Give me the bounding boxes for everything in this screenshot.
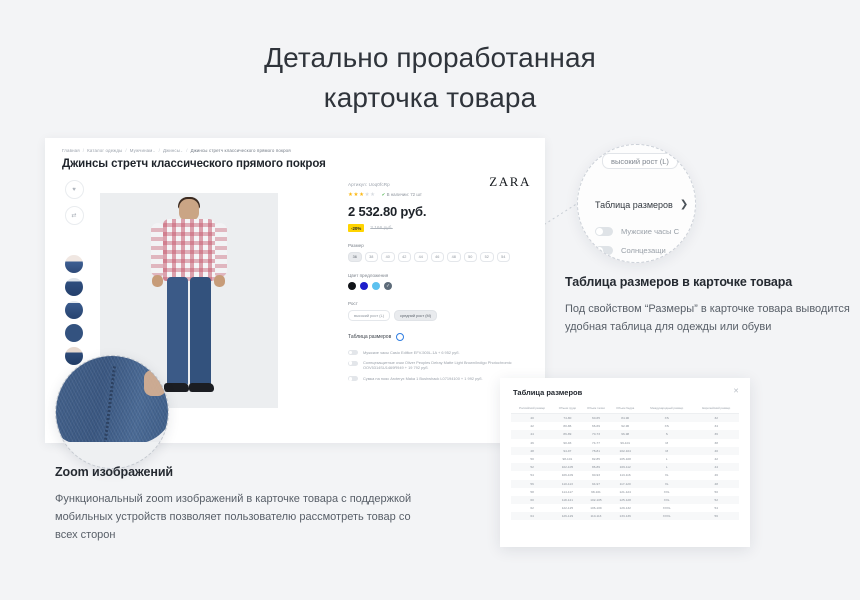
price-discount-row: -20% 3 166 руб.	[348, 224, 530, 232]
table-row: 4894-9778-81102-104M40	[511, 447, 739, 455]
table-row: 4486-8970-7396-98S36	[511, 430, 739, 438]
chevron-down-icon[interactable]: ⌄	[152, 149, 155, 153]
size-table-cell: 58	[511, 488, 553, 496]
size-option[interactable]: 44	[414, 252, 428, 262]
size-table-column-header: Объем груди	[553, 404, 581, 414]
size-table-cell: 102-104	[610, 447, 639, 455]
breadcrumb-item-men[interactable]: Мужчинам	[130, 148, 153, 153]
page-title-line1: Детально проработанная	[264, 42, 596, 73]
size-table-cell: 46	[511, 439, 553, 447]
addon-toggle[interactable]	[595, 246, 613, 255]
size-table-cell: 105-108	[610, 455, 639, 463]
breadcrumb-item-home[interactable]: Главная	[62, 148, 80, 153]
color-group-label: Цвет предложения	[348, 273, 530, 278]
thumbnail-item[interactable]	[65, 324, 83, 342]
size-table-cell: 40	[694, 447, 739, 455]
discount-badge: -20%	[348, 224, 364, 232]
size-option[interactable]: 50	[464, 252, 478, 262]
size-table-cell: 44	[511, 430, 553, 438]
size-table-cell: XXL	[640, 488, 694, 496]
size-table-cell: 129-132	[610, 504, 639, 512]
table-row: 60118-121102-105125-128XXL52	[511, 496, 739, 504]
size-table-cell: 90-93	[581, 471, 610, 479]
breadcrumb-item-jeans[interactable]: Джинсы	[163, 148, 180, 153]
size-table-cell: 42	[511, 422, 553, 430]
size-table-cell: 94-97	[581, 480, 610, 488]
compare-icon[interactable]: ⇄	[65, 206, 84, 225]
size-table-cell: 82-85	[581, 455, 610, 463]
size-table-cell: 40	[511, 414, 553, 423]
article-number: Артикул: Uoq0fcRp	[348, 182, 530, 187]
model-arm-right	[213, 223, 227, 277]
size-table-cell: 125-128	[610, 496, 639, 504]
size-group-label: Размер	[348, 243, 530, 248]
size-table-cell: 36	[694, 430, 739, 438]
size-table-column-header: Российский размер	[511, 404, 553, 414]
size-option[interactable]: 38	[365, 252, 379, 262]
model-jeans-right	[190, 277, 211, 385]
addon-label: Мужские часы Casio Edifice EFV-500L-1A +…	[363, 350, 460, 355]
page-title-line2: карточка товара	[0, 78, 860, 118]
addon-toggle[interactable]	[348, 361, 358, 366]
addon-toggle[interactable]	[348, 376, 358, 381]
size-option[interactable]: 40	[381, 252, 395, 262]
size-table-description-body: Под свойством “Размеры” в карточке товар…	[565, 300, 855, 336]
height-group-label: Рост	[348, 301, 530, 306]
size-table-cell: 52	[694, 496, 739, 504]
magnified-addon-label: Мужские часы C	[621, 227, 679, 236]
size-table-cell: 46	[694, 471, 739, 479]
size-table-cell: 117-120	[610, 480, 639, 488]
check-icon: ✔	[382, 192, 386, 197]
size-table-cell: 102-105	[553, 463, 581, 471]
color-swatch[interactable]	[372, 282, 380, 290]
size-table-header-row: Российский размерОбъем грудиОбъем талииО…	[511, 404, 739, 414]
size-table-cell: 98-101	[581, 488, 610, 496]
thumbnail-rail: ♥ ⇄	[61, 180, 87, 370]
size-table-cell: 48	[694, 480, 739, 488]
size-table-column-header: Европейский размер	[694, 404, 739, 414]
size-table-cell: 50	[694, 488, 739, 496]
size-table-cell: 54	[511, 471, 553, 479]
addon-row[interactable]: Мужские часы Casio Edifice EFV-500L-1A +…	[348, 350, 530, 356]
size-table-cell: 86-89	[581, 463, 610, 471]
rating-stars[interactable]: ★★★★★	[348, 192, 376, 198]
size-table-cell: 92-96	[610, 422, 639, 430]
product-title: Джинсы стретч классического прямого покр…	[62, 158, 326, 170]
size-table-column-header: Международный размер	[640, 404, 694, 414]
size-table-cell: 98-101	[553, 455, 581, 463]
size-table-cell: 121-124	[610, 488, 639, 496]
height-option-tall[interactable]: высокий рост (L)	[348, 310, 390, 321]
model-hand-left	[152, 275, 163, 287]
size-option[interactable]: 54	[497, 252, 511, 262]
size-table-cell: 94-97	[553, 447, 581, 455]
size-table-cell: XXXL	[640, 512, 694, 520]
color-swatch[interactable]	[360, 282, 368, 290]
size-table-cell: 64	[511, 512, 553, 520]
size-table-cell: 44	[694, 463, 739, 471]
size-table-cell: 84-90	[610, 414, 639, 423]
size-table-cell: 102-105	[581, 496, 610, 504]
size-table-cell: 80-86	[553, 422, 581, 430]
size-table-cell: 133-136	[610, 512, 639, 520]
addon-list: Мужские часы Casio Edifice EFV-500L-1A +…	[348, 350, 530, 382]
color-swatch-selected[interactable]	[384, 282, 392, 290]
breadcrumb: Главная/Каталог одежды/Мужчинам⌄/Джинсы⌄…	[62, 148, 291, 153]
size-table-cell: 114-117	[553, 488, 581, 496]
size-table-body: 4074-8060-6584-90XS324280-8666-6992-96XS…	[511, 414, 739, 521]
color-selector	[348, 282, 530, 290]
size-table-cell: 78-81	[581, 447, 610, 455]
size-table-cell: 109-112	[610, 463, 639, 471]
size-table-cell: 32	[694, 414, 739, 423]
zoom-description-title: Zoom изображений	[55, 465, 435, 479]
size-table-cell: 50	[511, 455, 553, 463]
magnified-height-chip[interactable]: высокий рост (L)	[602, 153, 678, 169]
zoom-hand	[144, 370, 166, 396]
old-price: 3 166 руб.	[370, 226, 392, 231]
rating-row: ★★★★★ ✔ В наличии: 72 шт	[348, 192, 530, 198]
size-table-cell: 118-121	[553, 496, 581, 504]
size-table-cell: 86-89	[553, 430, 581, 438]
size-table-cell: XXXL	[640, 504, 694, 512]
size-table-cell: 52	[511, 463, 553, 471]
table-row: 4280-8666-6992-96XS34	[511, 422, 739, 430]
magnified-addon-row[interactable]: Мужские часы C	[595, 227, 679, 236]
size-table-cell: L	[640, 463, 694, 471]
page-root: Детально проработанная карточка товара Г…	[0, 0, 860, 600]
size-table-description-title: Таблица размеров в карточке товара	[565, 275, 855, 289]
product-price: 2 532.80 руб.	[348, 204, 530, 219]
breadcrumb-item-catalog[interactable]: Каталог одежды	[87, 148, 122, 153]
magnified-addon-row[interactable]: Солнцезащи	[595, 246, 666, 255]
size-table-cell: 38	[694, 439, 739, 447]
stock-label: В наличии: 72 шт	[387, 192, 422, 197]
color-swatch[interactable]	[348, 282, 356, 290]
magnified-size-table-link[interactable]: Таблица размеров ❯	[595, 199, 688, 210]
size-table-cell: XS	[640, 422, 694, 430]
thumbnail-list	[61, 255, 87, 365]
size-table-cell: M	[640, 439, 694, 447]
zoom-description-body: Функциональный zoom изображений в карточ…	[55, 490, 435, 544]
image-zoom-lens[interactable]	[55, 355, 169, 469]
size-option[interactable]: 36	[348, 252, 362, 262]
size-table-cell: 74-80	[553, 414, 581, 423]
size-table-cell: 66-69	[581, 422, 610, 430]
table-row: 4690-9374-7799-101M38	[511, 439, 739, 447]
size-table-cell: 106-109	[581, 504, 610, 512]
size-table-cell: 99-101	[610, 439, 639, 447]
table-row: 56110-11394-97117-120XL48	[511, 480, 739, 488]
table-row: 62122-125106-109129-132XXXL54	[511, 504, 739, 512]
table-row: 64126-129110-113133-136XXXL56	[511, 512, 739, 520]
size-table-cell: 56	[511, 480, 553, 488]
table-row: 54106-10990-93113-116XL46	[511, 471, 739, 479]
size-option[interactable]: 48	[447, 252, 461, 262]
size-table-cell: L	[640, 455, 694, 463]
table-row: 5098-10182-85105-108L42	[511, 455, 739, 463]
size-table-cell: 106-109	[553, 471, 581, 479]
model-shirt	[163, 219, 215, 281]
size-selector: 36 38 40 42 44 46 48 50 52 54	[348, 252, 530, 262]
breadcrumb-item-current: Джинсы стретч классического прямого покр…	[191, 148, 291, 153]
model-jeans-left	[167, 277, 188, 385]
size-table-cell: S	[640, 430, 694, 438]
size-table-cell: 96-98	[610, 430, 639, 438]
size-table-cell: 90-93	[553, 439, 581, 447]
size-table-cell: 34	[694, 422, 739, 430]
size-table-cell: 74-77	[581, 439, 610, 447]
size-option[interactable]: 42	[398, 252, 412, 262]
chevron-down-icon[interactable]: ⌄	[180, 149, 183, 153]
size-table-panel-title: Таблица размеров	[513, 388, 582, 397]
addon-label: Сумка на пояс Arcteryx Maka 1 Bushwhack …	[363, 376, 483, 381]
size-table-panel: Таблица размеров ✕ Российский размерОбъе…	[500, 378, 750, 547]
size-table-cell: XS	[640, 414, 694, 423]
zoom-description: Zoom изображений Функциональный zoom изо…	[55, 465, 435, 544]
table-row: 52102-10586-89109-112L44	[511, 463, 739, 471]
magnified-addon-label: Солнцезащи	[621, 246, 666, 255]
size-table-cell: 62	[511, 504, 553, 512]
addon-row[interactable]: Солнцезащитные очки Oliver Peoples Delra…	[348, 360, 530, 371]
thumbnail-item[interactable]	[65, 301, 83, 319]
size-table-cell: 42	[694, 455, 739, 463]
size-table-cell: 113-116	[610, 471, 639, 479]
size-option[interactable]: 52	[480, 252, 494, 262]
size-table-link-label: Таблица размеров	[348, 334, 391, 340]
product-info-column: Артикул: Uoq0fcRp ★★★★★ ✔ В наличии: 72 …	[348, 182, 530, 386]
size-table-cell: 110-113	[581, 512, 610, 520]
model-head	[179, 199, 199, 221]
size-table-cell: XL	[640, 480, 694, 488]
thumbnail-item[interactable]	[65, 278, 83, 296]
addon-toggle[interactable]	[595, 227, 613, 236]
size-table-cell: 48	[511, 447, 553, 455]
chevron-right-icon: ❯	[680, 199, 688, 210]
stock-status: ✔ В наличии: 72 шт	[382, 192, 422, 198]
size-table-cell: 70-73	[581, 430, 610, 438]
size-table-cell: XXL	[640, 496, 694, 504]
favorite-icon[interactable]: ♥	[65, 180, 84, 199]
size-table-magnifier: высокий рост (L) Таблица размеров ❯ Мужс…	[577, 144, 696, 263]
height-option-medium[interactable]: средний рост (M)	[394, 310, 437, 321]
size-option[interactable]: 46	[431, 252, 445, 262]
table-row: 58114-11798-101121-124XXL50	[511, 488, 739, 496]
size-table-link[interactable]: Таблица размеров	[348, 333, 530, 341]
size-table-column-header: Объем бедра	[610, 404, 639, 414]
page-title: Детально проработанная карточка товара	[0, 38, 860, 118]
model-shoe-right	[189, 383, 214, 392]
size-table-description: Таблица размеров в карточке товара Под с…	[565, 275, 855, 336]
size-table-cell: 126-129	[553, 512, 581, 520]
table-row: 4074-8060-6584-90XS32	[511, 414, 739, 423]
height-selector: высокий рост (L) средний рост (M)	[348, 310, 530, 321]
size-table-column-header: Объем талии	[581, 404, 610, 414]
addon-toggle[interactable]	[348, 350, 358, 355]
close-icon[interactable]: ✕	[733, 387, 739, 395]
model-hand-right	[214, 275, 225, 287]
size-table-cell: 54	[694, 504, 739, 512]
size-table-toggle-icon[interactable]	[396, 333, 404, 341]
size-table-cell: 60	[511, 496, 553, 504]
thumbnail-item[interactable]	[65, 255, 83, 273]
size-table-cell: 56	[694, 512, 739, 520]
addon-label: Солнцезащитные очки Oliver Peoples Delra…	[363, 360, 530, 371]
size-table-cell: M	[640, 447, 694, 455]
size-table-cell: XL	[640, 471, 694, 479]
magnified-size-table-label: Таблица размеров	[595, 200, 673, 210]
size-table-cell: 60-65	[581, 414, 610, 423]
size-table: Российский размерОбъем грудиОбъем талииО…	[511, 404, 739, 520]
size-table-cell: 122-125	[553, 504, 581, 512]
size-table-cell: 110-113	[553, 480, 581, 488]
